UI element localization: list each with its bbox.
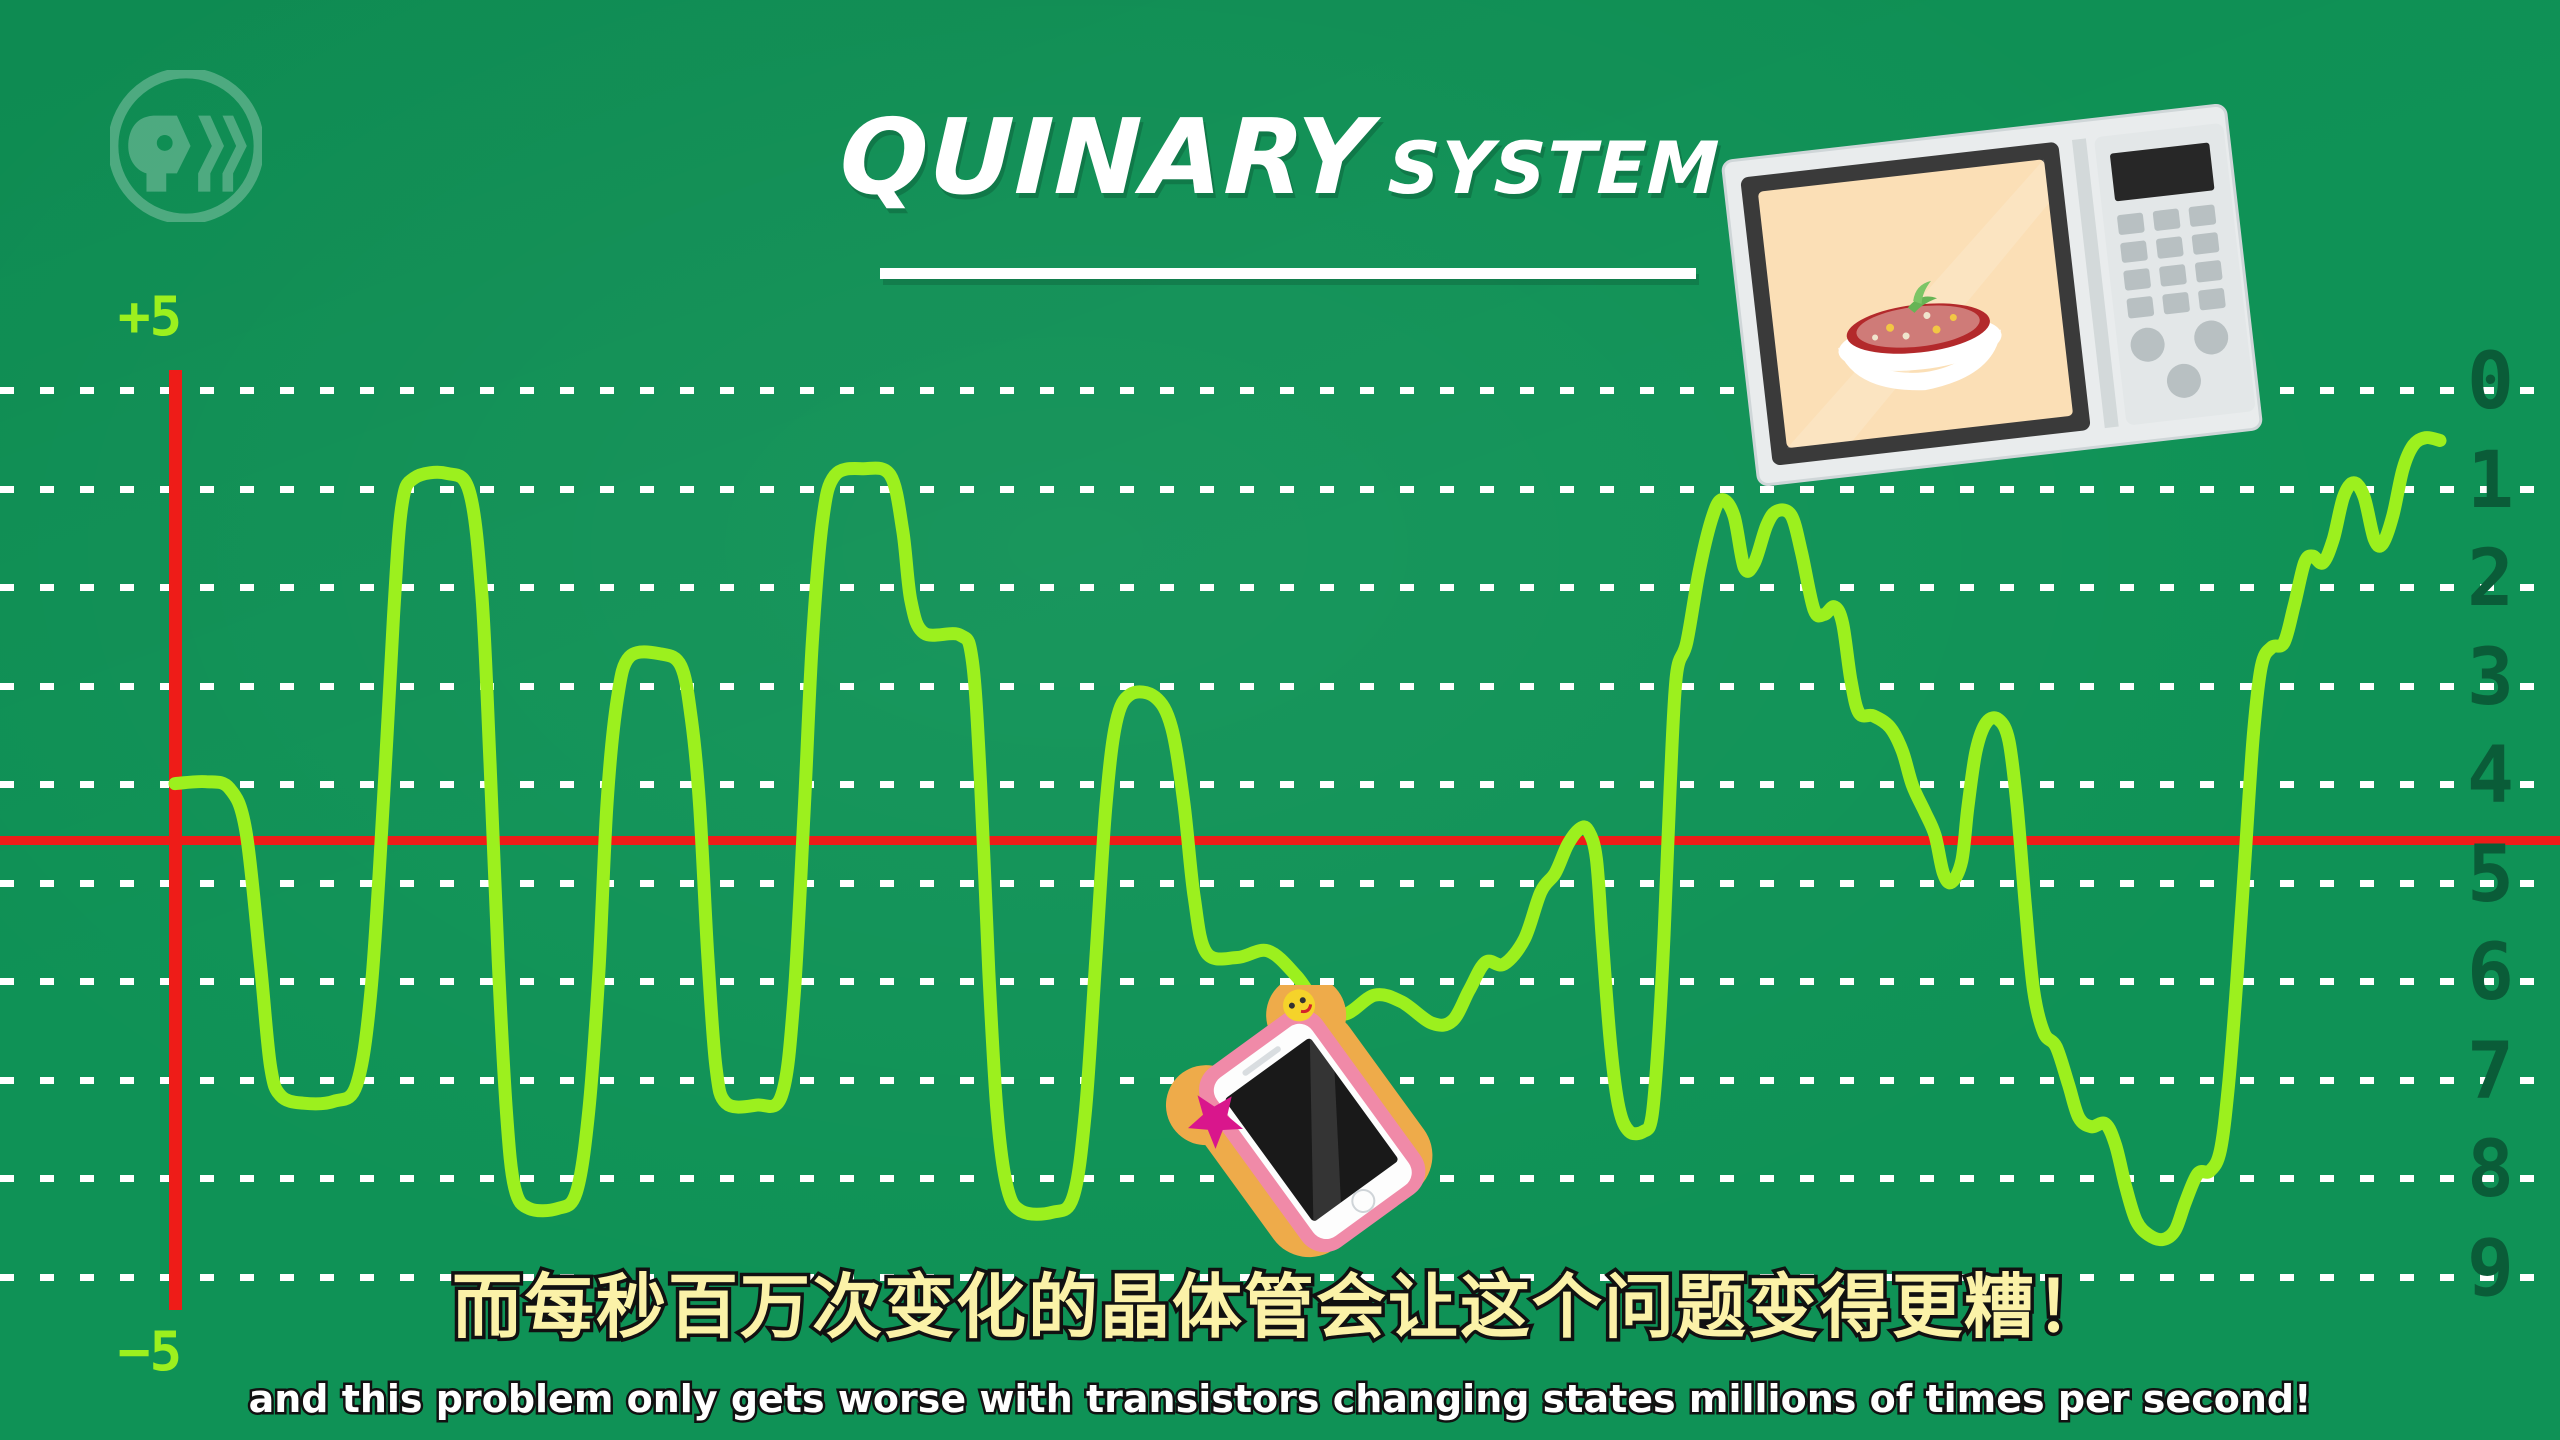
video-frame: +5 −5 0123456789 QUINARYSYSTEM	[0, 0, 2560, 1440]
subtitle-english: and this problem only gets worse with tr…	[0, 1380, 2560, 1418]
smartphone-illustration	[1163, 985, 1463, 1275]
title-underline	[880, 268, 1696, 279]
pbs-logo-icon	[110, 70, 262, 222]
microwave-oven-illustration	[1720, 102, 2264, 488]
subtitle-chinese: 而每秒百万次变化的晶体管会让这个问题变得更糟！	[0, 1272, 2560, 1342]
